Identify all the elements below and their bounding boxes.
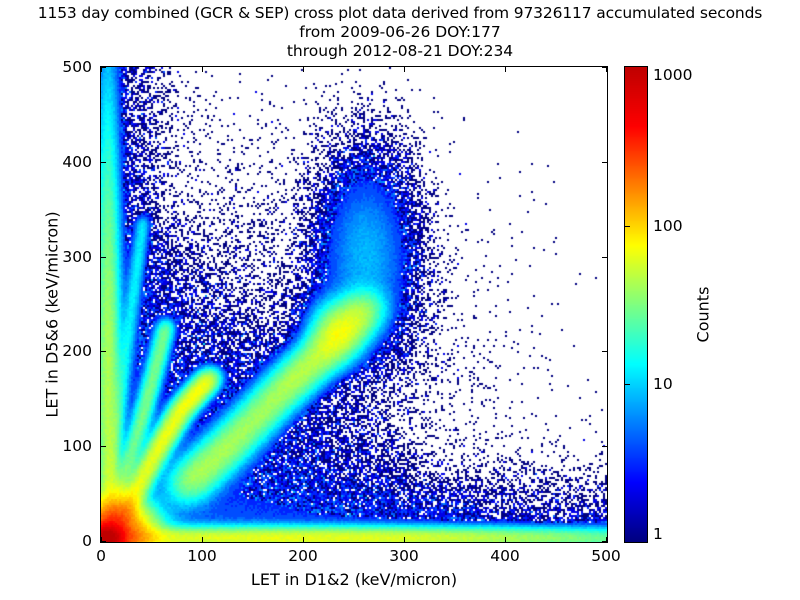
y-axis-label: LET in D5&6 (keV/micron) — [43, 160, 62, 470]
x-tick-label: 400 — [490, 547, 520, 565]
density-scatter-canvas — [101, 67, 607, 542]
x-tick-label: 300 — [389, 547, 419, 565]
y-tick-mark — [101, 162, 106, 163]
x-tick-label: 200 — [288, 547, 318, 565]
y-tick-mark — [602, 541, 607, 542]
figure-root: 1153 day combined (GCR & SEP) cross plot… — [0, 0, 800, 600]
colorbar-label: Counts — [694, 240, 713, 390]
y-tick-label: 200 — [32, 342, 92, 360]
x-tick-mark — [303, 537, 304, 542]
colorbar-gradient — [625, 67, 647, 542]
y-tick-label: 0 — [32, 532, 92, 550]
title-line-2: from 2009-06-26 DOY:177 — [0, 23, 800, 42]
x-tick-label: 0 — [96, 547, 106, 565]
x-axis-label: LET in D1&2 (keV/micron) — [100, 570, 608, 589]
y-tick-label: 400 — [32, 153, 92, 171]
colorbar-tick-label: 100 — [653, 217, 683, 235]
y-tick-mark — [602, 446, 607, 447]
y-tick-mark — [101, 541, 106, 542]
y-tick-label: 100 — [32, 437, 92, 455]
y-tick-mark — [101, 446, 106, 447]
y-tick-mark — [101, 351, 106, 352]
y-tick-mark — [602, 257, 607, 258]
colorbar-tick-label: 1 — [653, 525, 663, 543]
y-tick-label: 500 — [32, 58, 92, 76]
title-line-1: 1153 day combined (GCR & SEP) cross plot… — [0, 4, 800, 23]
x-tick-mark — [505, 537, 506, 542]
plot-area[interactable] — [100, 66, 608, 543]
x-tick-mark — [404, 67, 405, 72]
y-tick-mark — [101, 257, 106, 258]
colorbar-tick-mark — [625, 384, 630, 385]
plot-title: 1153 day combined (GCR & SEP) cross plot… — [0, 4, 800, 61]
y-tick-mark — [101, 67, 106, 68]
colorbar-tick-label: 10 — [653, 375, 673, 393]
x-tick-mark — [404, 537, 405, 542]
y-tick-mark — [602, 351, 607, 352]
colorbar[interactable] — [624, 66, 648, 543]
y-tick-mark — [602, 67, 607, 68]
y-tick-label: 300 — [32, 248, 92, 266]
x-tick-label: 100 — [187, 547, 217, 565]
colorbar-tick-mark — [625, 226, 630, 227]
title-line-3: through 2012-08-21 DOY:234 — [0, 42, 800, 61]
x-tick-mark — [303, 67, 304, 72]
x-tick-mark — [505, 67, 506, 72]
y-tick-mark — [602, 162, 607, 163]
x-tick-label: 500 — [591, 547, 621, 565]
x-tick-mark — [202, 67, 203, 72]
x-tick-mark — [202, 537, 203, 542]
colorbar-tick-label: 1000 — [653, 66, 692, 84]
